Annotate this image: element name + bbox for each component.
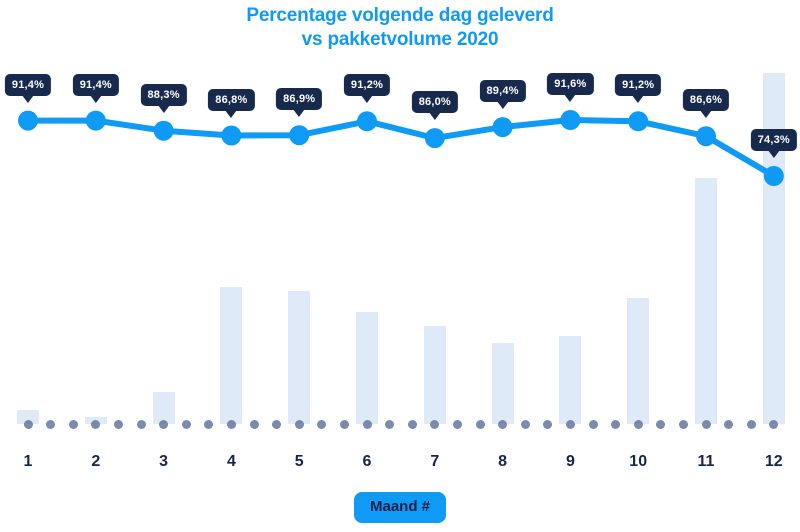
x-axis-label-8: 8 — [498, 452, 507, 472]
x-axis-label-5: 5 — [295, 452, 304, 472]
x-axis-label-4: 4 — [227, 452, 236, 472]
line-marker-month-3[interactable] — [154, 121, 174, 141]
line-path — [28, 120, 774, 176]
data-label-month-7: 86,0% — [412, 91, 458, 113]
line-series-svg — [0, 0, 800, 440]
line-marker-month-9[interactable] — [560, 110, 580, 130]
line-marker-month-2[interactable] — [86, 111, 106, 131]
data-label-month-11: 86,6% — [683, 89, 729, 111]
chart-legend: Maand # — [0, 492, 800, 523]
data-label-month-2: 91,4% — [73, 74, 119, 96]
line-marker-month-7[interactable] — [425, 128, 445, 148]
data-label-month-5: 86,9% — [276, 88, 322, 110]
x-axis-label-6: 6 — [363, 452, 372, 472]
x-axis-label-10: 10 — [629, 452, 647, 472]
data-label-month-1: 91,4% — [5, 74, 51, 96]
data-label-month-9: 91,6% — [547, 73, 593, 95]
x-axis-label-1: 1 — [24, 452, 33, 472]
data-label-month-3: 88,3% — [140, 84, 186, 106]
data-label-month-4: 86,8% — [208, 89, 254, 111]
x-axis-label-12: 12 — [765, 452, 783, 472]
line-marker-month-10[interactable] — [628, 111, 648, 131]
x-axis-label-3: 3 — [159, 452, 168, 472]
x-axis-label-11: 11 — [698, 452, 715, 472]
data-label-month-12: 74,3% — [751, 129, 797, 151]
x-axis-label-2: 2 — [91, 452, 100, 472]
line-marker-month-1[interactable] — [18, 111, 38, 131]
chart-container: Percentage volgende dag geleverd vs pakk… — [0, 0, 800, 532]
data-label-month-8: 89,4% — [479, 80, 525, 102]
x-axis-labels: 123456789101112 — [0, 452, 800, 480]
x-axis-legend-badge[interactable]: Maand # — [354, 492, 446, 523]
line-markers-layer — [18, 110, 784, 186]
data-label-month-6: 91,2% — [344, 74, 390, 96]
plot-area: 91,4%91,4%88,3%86,8%86,9%91,2%86,0%89,4%… — [0, 0, 800, 440]
line-marker-month-6[interactable] — [357, 111, 377, 131]
line-marker-month-11[interactable] — [696, 126, 716, 146]
x-axis-label-9: 9 — [566, 452, 575, 472]
data-label-month-10: 91,2% — [615, 74, 661, 96]
line-marker-month-8[interactable] — [493, 117, 513, 137]
line-marker-month-5[interactable] — [289, 125, 309, 145]
line-marker-month-4[interactable] — [221, 126, 241, 146]
x-axis-label-7: 7 — [430, 452, 439, 472]
line-marker-month-12[interactable] — [764, 166, 784, 186]
